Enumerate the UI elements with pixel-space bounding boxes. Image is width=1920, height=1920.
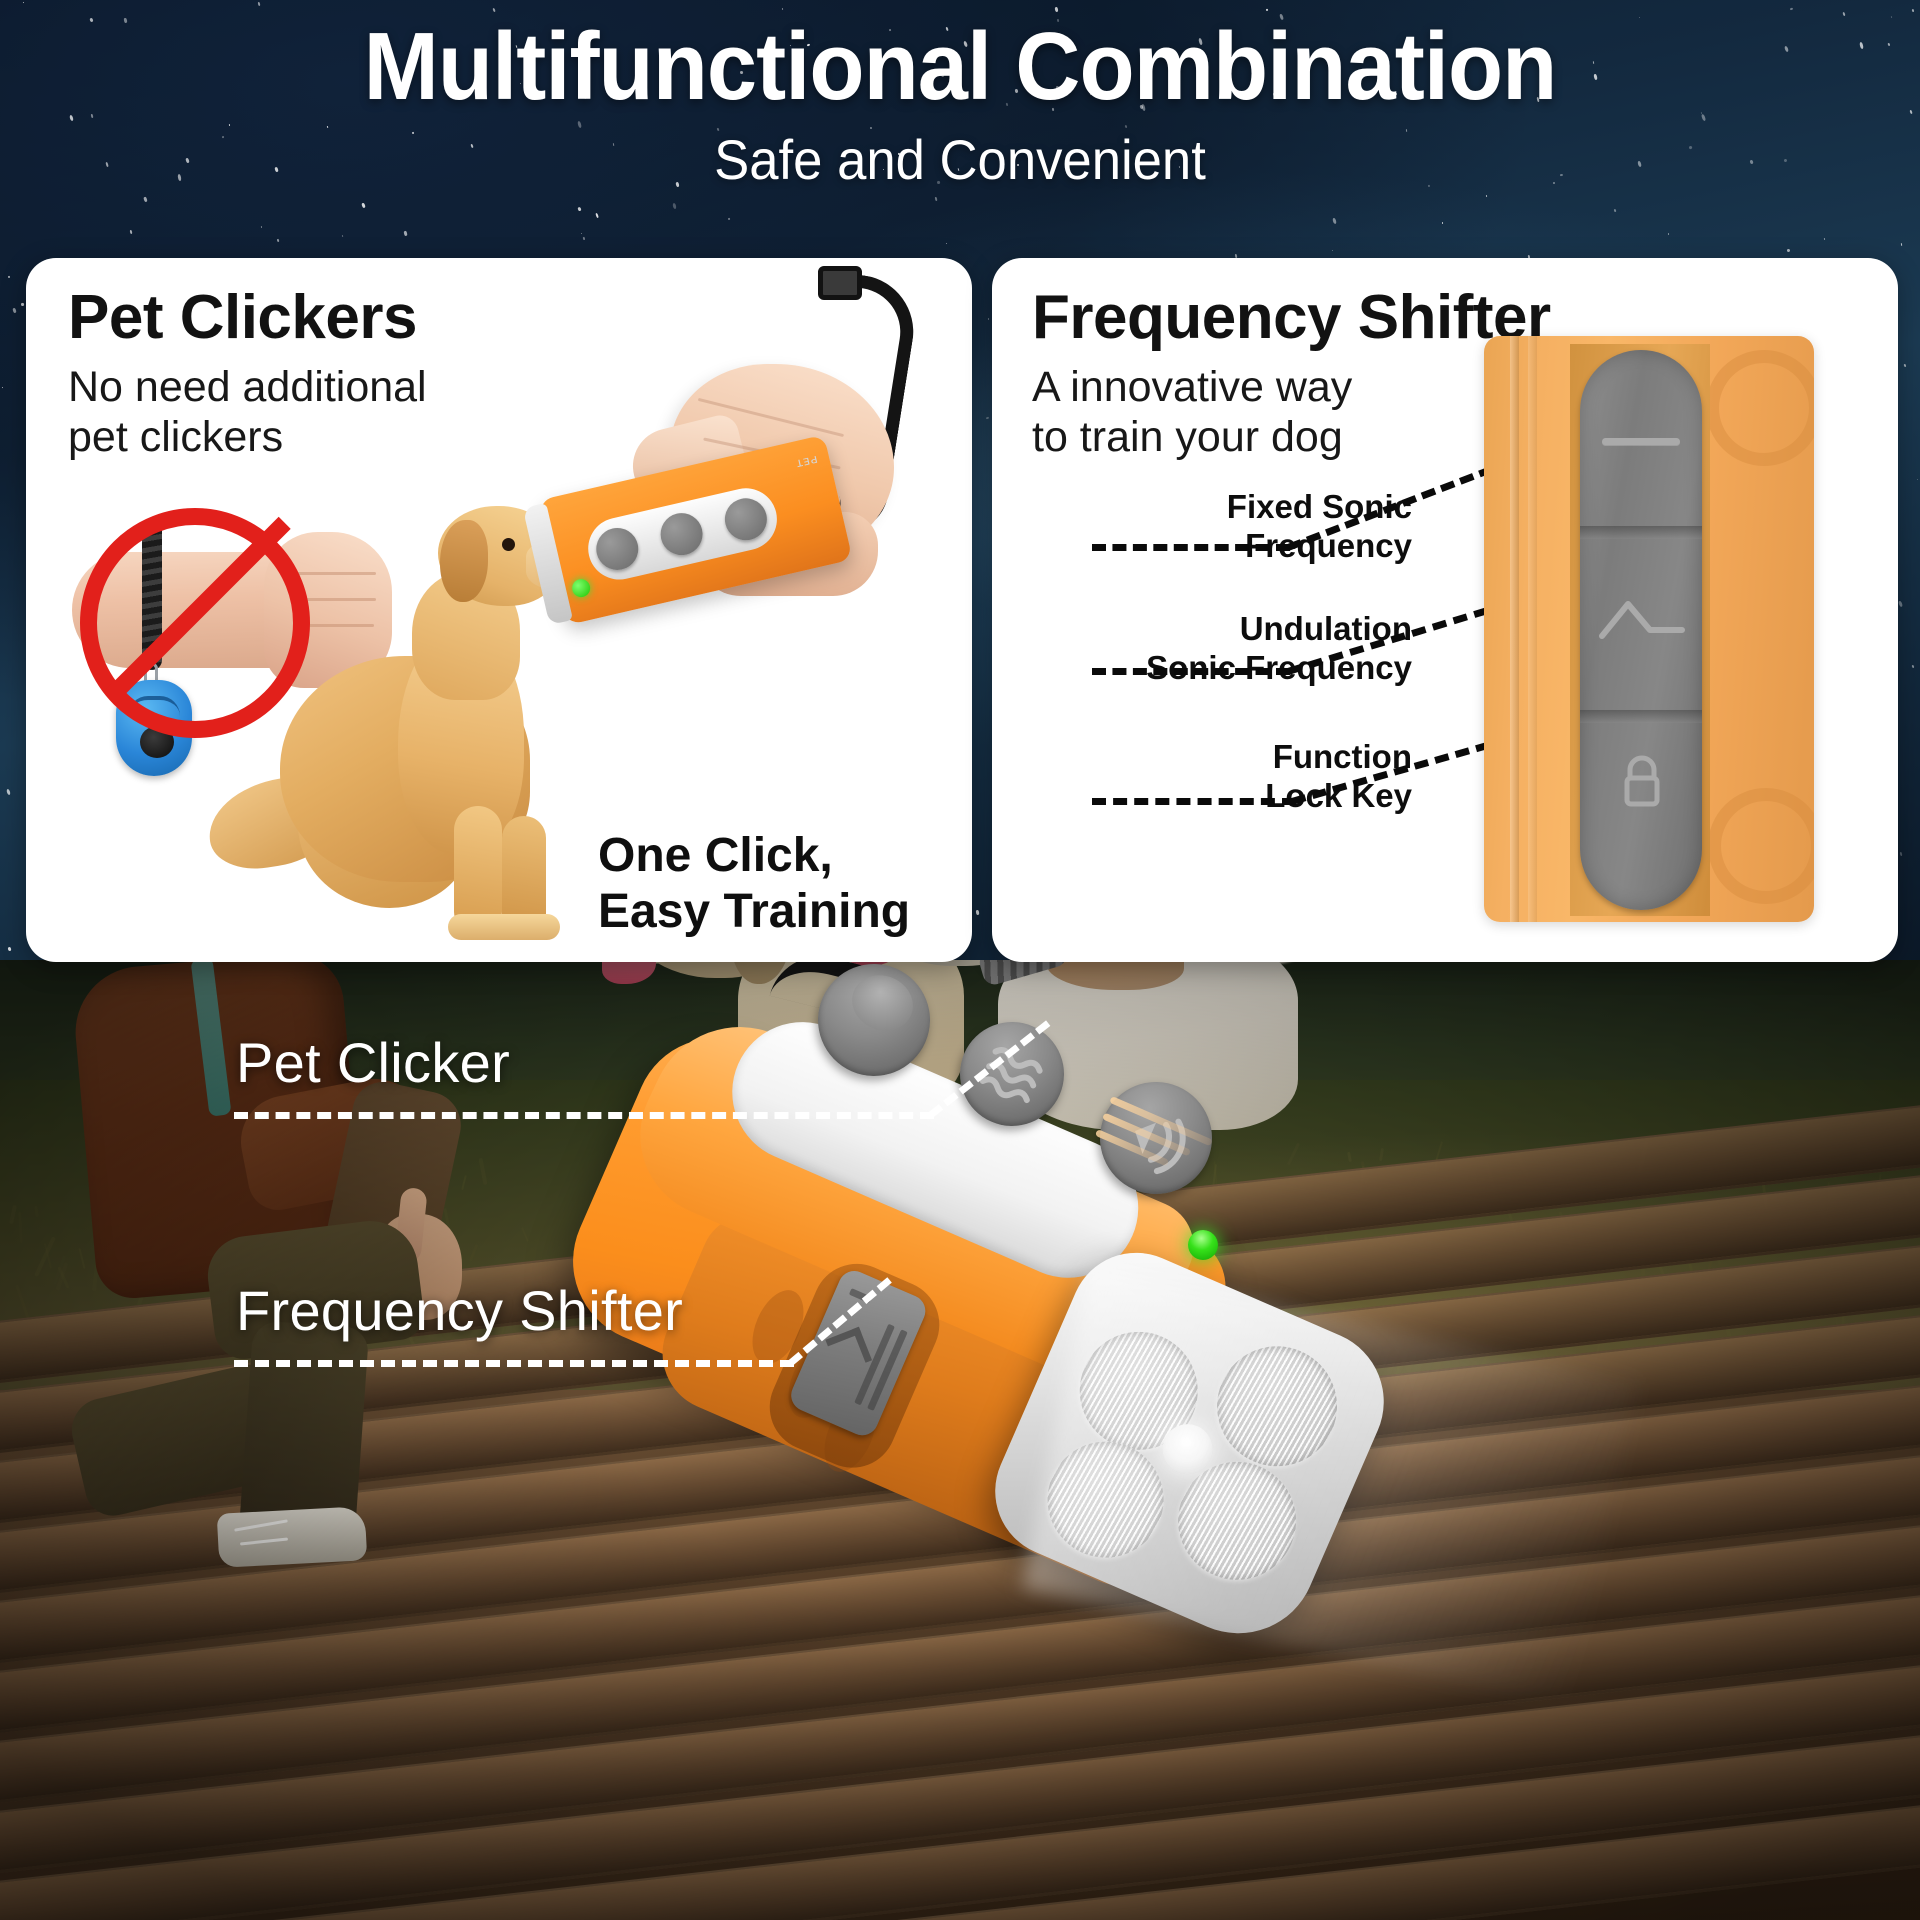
mini-btn-clicker	[721, 494, 771, 544]
speaker-top-right	[1198, 1327, 1356, 1485]
product-device	[600, 960, 1520, 1630]
zigzag-wave-icon	[1598, 596, 1686, 640]
label-pet-clicker-leader	[234, 1112, 934, 1119]
leader-line-3	[1092, 798, 1296, 805]
three-position-switch[interactable]	[1580, 350, 1702, 910]
hand-holding-device-icon: ᴘᴇᴛ	[546, 266, 966, 686]
plain-clicker-icon	[843, 966, 921, 1040]
mini-btn-sonic	[592, 524, 642, 574]
mini-btn-wave	[656, 509, 706, 559]
label-frequency-shifter-leader	[234, 1360, 794, 1367]
card-right-title: Frequency Shifter	[1032, 282, 1551, 353]
card-left-slogan: One Click, Easy Training	[598, 828, 910, 939]
green-power-led	[570, 577, 592, 599]
mini-device: ᴘᴇᴛ	[537, 435, 852, 626]
padlock-icon	[1618, 754, 1666, 810]
card-right-subtitle: A innovative way to train your dog	[1032, 362, 1392, 463]
infographic-stage: Multifunctional Combination Safe and Con…	[0, 0, 1920, 1920]
card-pet-clickers: Pet Clickers No need additional pet clic…	[26, 258, 972, 962]
label-pet-clicker: Pet Clicker	[236, 1030, 510, 1095]
page-title: Multifunctional Combination	[58, 18, 1863, 117]
header: Multifunctional Combination Safe and Con…	[0, 18, 1920, 190]
outdoor-scene	[0, 960, 1920, 1920]
leader-line-2	[1092, 668, 1290, 675]
page-subtitle: Safe and Convenient	[58, 129, 1863, 191]
feature-cards-row: Pet Clickers No need additional pet clic…	[0, 258, 1920, 976]
leader-line-1	[1092, 544, 1290, 551]
strap-clip	[818, 266, 862, 300]
label-frequency-shifter: Frequency Shifter	[236, 1278, 683, 1343]
straight-line-icon	[1602, 438, 1680, 445]
card-left-title: Pet Clickers	[68, 282, 417, 353]
card-left-subtitle: No need additional pet clickers	[68, 362, 498, 463]
device-side-switch-closeup	[1484, 336, 1814, 922]
card-frequency-shifter: Frequency Shifter A innovative way to tr…	[992, 258, 1898, 962]
